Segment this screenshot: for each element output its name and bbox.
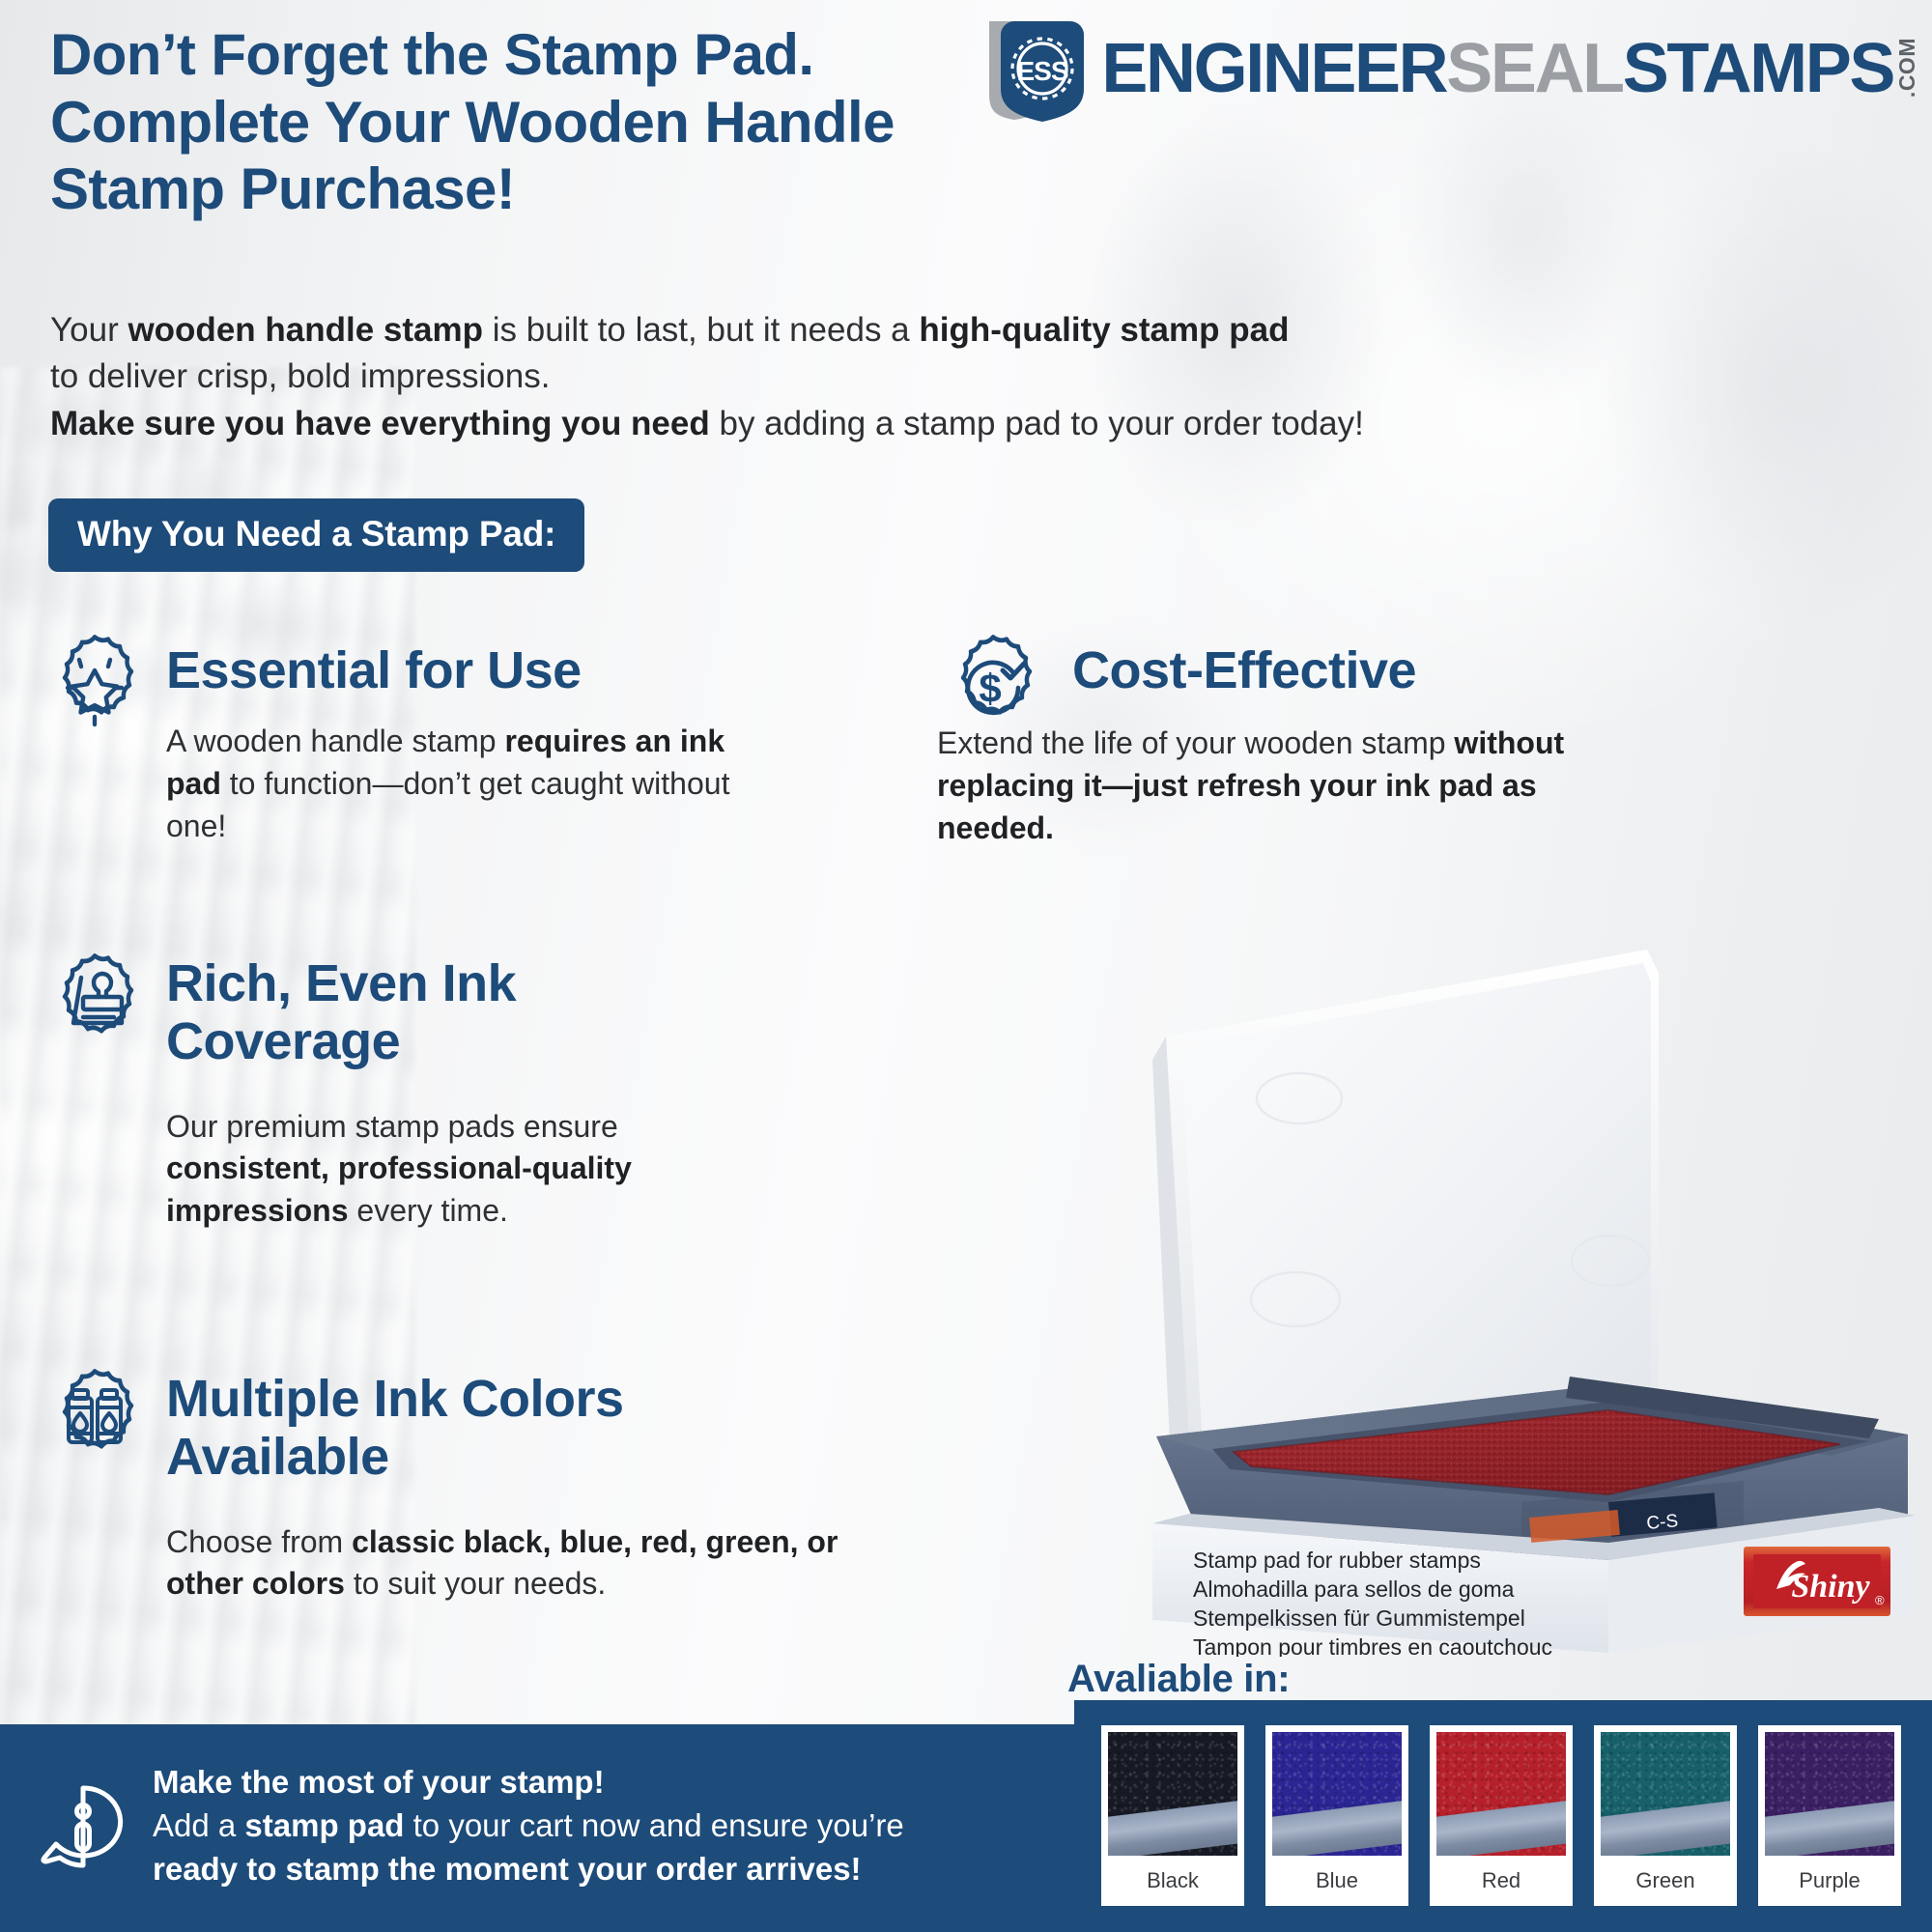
footer-2a: Add a — [153, 1807, 244, 1843]
footer-message: Make the most of your stamp! Add a stamp… — [153, 1761, 1070, 1891]
box-line-3: Stempelkissen für Gummistempel — [1193, 1605, 1525, 1631]
box-side-code: C-S — [1646, 1511, 1679, 1534]
footer-line-1: Make the most of your stamp! — [153, 1761, 1070, 1804]
feature-body: A wooden handle stamp requires an ink pa… — [166, 721, 746, 847]
feature-body-c: to function—don’t get caught without one… — [166, 766, 729, 843]
swatch-label: Green — [1594, 1856, 1737, 1906]
svg-text:$: $ — [979, 666, 1001, 711]
section-banner: Why You Need a Stamp Pad: — [48, 498, 584, 572]
feature-body-c: every time. — [349, 1193, 508, 1228]
headline-line-3: Stamp Purchase! — [50, 156, 1209, 223]
intro-1c: is built to last, but it needs a — [483, 311, 919, 349]
footer-line-3: ready to stamp the moment your order arr… — [153, 1848, 1070, 1891]
swatch-label: Black — [1101, 1856, 1244, 1906]
swatch-purple[interactable]: Purple — [1754, 1721, 1905, 1910]
feature-body-a: A wooden handle stamp — [166, 724, 504, 758]
brand-logo[interactable]: ESS ENGINEER SEAL STAMPS .COM — [985, 15, 1918, 122]
swatch-image — [1272, 1732, 1402, 1856]
ess-shield-gear-icon: ESS — [985, 15, 1097, 122]
feature-title: Rich, Even Ink Coverage — [166, 947, 649, 1071]
footer-line-1-text: Make the most of your stamp! — [153, 1764, 605, 1800]
footer-line-3-text: ready to stamp the moment your order arr… — [153, 1851, 862, 1887]
intro-line-3: Make sure you have everything you need b… — [50, 401, 1760, 447]
available-in-label: Avaliable in: — [1067, 1658, 1290, 1701]
box-line-2: Almohadilla para sellos de goma — [1193, 1577, 1515, 1602]
intro-1b: wooden handle stamp — [128, 311, 483, 349]
feature-body-a: Choose from — [166, 1524, 352, 1559]
infographic-page: Don’t Forget the Stamp Pad. Complete You… — [0, 0, 1932, 1932]
stamp-pad-product-photo: C-S Stamp pad for rubber stamps Almohadi… — [1067, 923, 1927, 1657]
swatch-blue[interactable]: Blue — [1262, 1721, 1412, 1910]
feature-body: Our premium stamp pads ensure consistent… — [166, 1106, 707, 1233]
color-swatch-row: Black Blue Red Green — [1074, 1700, 1932, 1932]
feature-body-a: Our premium stamp pads ensure — [166, 1109, 618, 1144]
feature-title: Multiple Ink Colors Available — [166, 1362, 784, 1487]
info-bubble-icon — [37, 1780, 129, 1877]
feature-ink-coverage: Rich, Even Ink Coverage Our premium stam… — [39, 947, 811, 1232]
logo-word-engineer: ENGINEER — [1101, 40, 1446, 98]
swatch-black[interactable]: Black — [1097, 1721, 1248, 1910]
shiny-registered-mark: ® — [1875, 1593, 1885, 1607]
swatch-label: Purple — [1758, 1856, 1901, 1906]
feature-ink-colors: Multiple Ink Colors Available Choose fro… — [39, 1362, 1014, 1605]
feature-title: Cost-Effective — [1072, 628, 1903, 699]
logo-tld: .COM — [1896, 38, 1918, 98]
intro-line-1: Your wooden handle stamp is built to las… — [50, 307, 1760, 354]
box-line-4: Tampon pour timbres en caoutchouc — [1193, 1634, 1552, 1657]
stamp-badge-icon — [39, 947, 151, 1066]
swatch-image — [1601, 1732, 1730, 1856]
swatch-image — [1765, 1732, 1894, 1856]
shiny-brand-logo: Shiny ® — [1744, 1547, 1890, 1616]
feature-body: Choose from classic black, blue, red, gr… — [166, 1521, 842, 1605]
logo-wordmark: ENGINEER SEAL STAMPS — [1101, 40, 1893, 98]
swatch-image — [1436, 1732, 1566, 1856]
footer-line-2: Add a stamp pad to your cart now and ens… — [153, 1804, 1070, 1848]
ink-bottles-badge-icon — [39, 1362, 151, 1482]
logo-word-stamps: STAMPS — [1623, 40, 1893, 98]
intro-paragraph: Your wooden handle stamp is built to las… — [50, 307, 1760, 447]
intro-line-2: to deliver crisp, bold impressions. — [50, 354, 1760, 400]
swatch-label: Blue — [1265, 1856, 1408, 1906]
swatch-image — [1108, 1732, 1237, 1856]
logo-word-seal: SEAL — [1446, 40, 1622, 98]
feature-title: Essential for Use — [166, 628, 782, 699]
footer-2c: to your cart now and ensure you’re — [404, 1807, 903, 1843]
feature-body-c: to suit your needs. — [345, 1566, 606, 1601]
intro-1a: Your — [50, 311, 128, 349]
intro-1d: high-quality stamp pad — [919, 311, 1289, 349]
box-line-1: Stamp pad for rubber stamps — [1193, 1548, 1481, 1573]
feature-cost-effective: $ Cost-Effective Extend the life of your… — [937, 628, 1903, 849]
swatch-label: Red — [1430, 1856, 1573, 1906]
swatch-green[interactable]: Green — [1590, 1721, 1741, 1910]
dollar-check-badge-icon: $ — [937, 628, 1049, 748]
feature-essential-for-use: Essential for Use A wooden handle stamp … — [39, 628, 782, 847]
svg-text:ESS: ESS — [1017, 56, 1068, 86]
star-badge-icon — [39, 628, 151, 748]
intro-3a: Make sure you have everything you need — [50, 405, 710, 442]
footer-2b: stamp pad — [244, 1807, 404, 1843]
intro-3b: by adding a stamp pad to your order toda… — [710, 405, 1364, 442]
swatch-red[interactable]: Red — [1426, 1721, 1577, 1910]
shiny-brand-name: Shiny — [1791, 1569, 1870, 1605]
